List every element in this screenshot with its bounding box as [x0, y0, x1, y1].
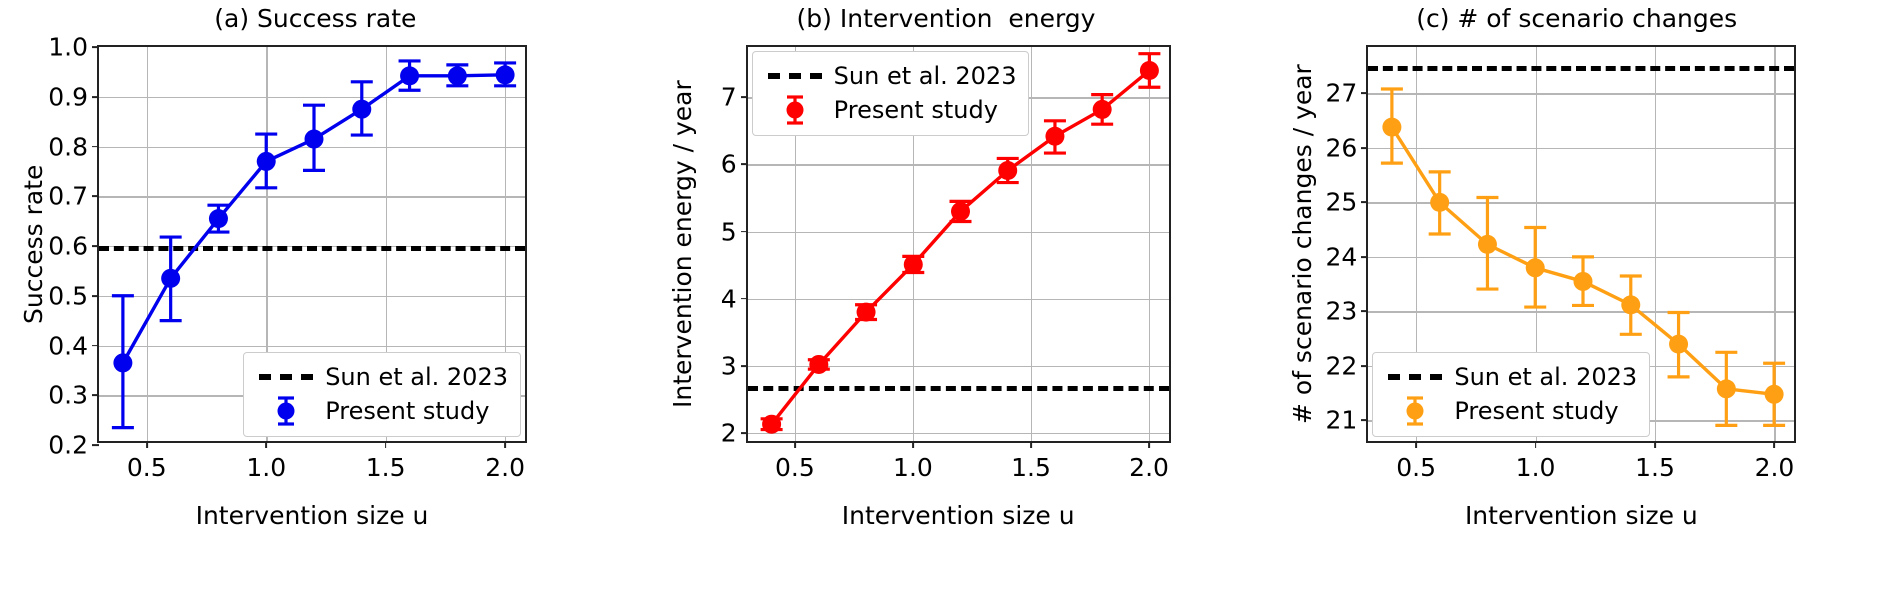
ytick-label: 26 [1326, 133, 1369, 162]
ytick-label: 24 [1326, 242, 1369, 271]
xtick-label: 1.5 [1011, 441, 1051, 482]
ytick-label: 6 [721, 150, 748, 179]
ytick-label: 0.5 [48, 281, 99, 310]
data-point-marker[interactable] [305, 130, 324, 149]
errorbar-marker-glyph [1398, 394, 1432, 428]
xtick-label: 0.5 [775, 441, 815, 482]
data-point-marker[interactable] [1669, 335, 1688, 354]
panel-b-ylabel: Intervention energy / year [668, 80, 697, 408]
legend-label-present-study: Present study [1446, 397, 1618, 425]
panel-a: (a) Success rate Success rate 0.20.30.40… [0, 0, 631, 615]
ytick-label: 2 [721, 418, 748, 447]
data-point-marker[interactable] [951, 202, 970, 221]
panel-c-ylabel: # of scenario changes / year [1288, 64, 1317, 424]
ytick-label: 21 [1326, 406, 1369, 435]
legend-entry-sun-2023: Sun et al. 2023 [1384, 360, 1637, 394]
figure-three-panel-errorbar: (a) Success rate Success rate 0.20.30.40… [0, 0, 1892, 615]
panel-c: (c) # of scenario changes # of scenario … [1261, 0, 1892, 615]
legend-label-present-study: Present study [826, 96, 998, 124]
dash-glyph [259, 374, 313, 380]
panel-b-title: (b) Intervention energy [631, 4, 1262, 33]
data-point-marker[interactable] [1765, 385, 1784, 404]
panel-c-xlabel: Intervention size u [1366, 501, 1796, 530]
legend-label-sun-2023: Sun et al. 2023 [826, 62, 1017, 90]
legend-entry-present-study: Present study [1384, 394, 1637, 428]
errorbar-marker-icon [1384, 394, 1446, 428]
legend-entry-present-study: Present study [764, 93, 1017, 127]
data-point-marker[interactable] [257, 152, 276, 171]
ytick-label: 0.9 [48, 82, 99, 111]
panel-c-title: (c) # of scenario changes [1261, 4, 1892, 33]
ytick-label: 3 [721, 351, 748, 380]
data-point-marker[interactable] [1045, 127, 1064, 146]
panel-a-xlabel: Intervention size u [97, 501, 527, 530]
ytick-label: 5 [721, 217, 748, 246]
data-point-marker[interactable] [400, 66, 419, 85]
ytick-label: 22 [1326, 351, 1369, 380]
ytick-label: 1.0 [48, 33, 99, 62]
legend-entry-sun-2023: Sun et al. 2023 [764, 59, 1017, 93]
data-point-marker[interactable] [1431, 193, 1450, 212]
ytick-label: 0.7 [48, 182, 99, 211]
ytick-label: 0.3 [48, 381, 99, 410]
panel-a-ylabel: Success rate [19, 164, 48, 323]
legend-marker-dot [1407, 403, 1424, 420]
data-point-marker[interactable] [1140, 61, 1159, 80]
legend-label-sun-2023: Sun et al. 2023 [1446, 363, 1637, 391]
legend-entry-sun-2023: Sun et al. 2023 [255, 360, 508, 394]
data-point-marker[interactable] [998, 161, 1017, 180]
data-point-marker[interactable] [161, 269, 180, 288]
data-point-marker[interactable] [856, 303, 875, 322]
ytick-label: 25 [1326, 188, 1369, 217]
data-point-marker[interactable] [1526, 258, 1545, 277]
data-point-marker[interactable] [1717, 379, 1736, 398]
data-point-marker[interactable] [209, 209, 228, 228]
errorbar-marker-icon [255, 394, 317, 428]
errorbar-marker-glyph [269, 394, 303, 428]
panel-b-plot-area: 2345670.51.01.52.0Sun et al. 2023Present… [746, 45, 1171, 443]
data-point-marker[interactable] [1622, 295, 1641, 314]
data-point-marker[interactable] [1478, 235, 1497, 254]
legend-panel-b: Sun et al. 2023Present study [752, 51, 1030, 136]
data-point-marker[interactable] [496, 65, 515, 84]
panel-a-plot-area: 0.20.30.40.50.60.70.80.91.00.51.01.52.0S… [97, 45, 527, 443]
legend-label-present-study: Present study [317, 397, 489, 425]
legend-panel-a: Sun et al. 2023Present study [243, 352, 521, 437]
xtick-label: 1.0 [893, 441, 933, 482]
dashed-line-icon [1384, 374, 1446, 380]
xtick-label: 0.5 [1396, 441, 1436, 482]
legend-label-sun-2023: Sun et al. 2023 [317, 363, 508, 391]
ytick-label: 27 [1326, 79, 1369, 108]
data-point-marker[interactable] [113, 353, 132, 372]
data-point-marker[interactable] [762, 415, 781, 434]
xtick-label: 1.5 [1635, 441, 1675, 482]
xtick-label: 2.0 [1755, 441, 1795, 482]
xtick-label: 2.0 [485, 441, 525, 482]
data-point-marker[interactable] [1574, 272, 1593, 291]
data-point-marker[interactable] [352, 100, 371, 119]
legend-panel-c: Sun et al. 2023Present study [1372, 352, 1650, 437]
panel-a-title: (a) Success rate [0, 4, 631, 33]
xtick-label: 1.0 [1516, 441, 1556, 482]
data-point-marker[interactable] [809, 355, 828, 374]
ytick-label: 7 [721, 83, 748, 112]
ytick-label: 4 [721, 284, 748, 313]
legend-marker-dot [786, 102, 803, 119]
xtick-label: 1.0 [246, 441, 286, 482]
data-point-marker[interactable] [1383, 118, 1402, 137]
legend-marker-dot [278, 403, 295, 420]
data-point-marker[interactable] [1092, 100, 1111, 119]
xtick-label: 1.5 [366, 441, 406, 482]
panel-b: (b) Intervention energy Intervention ene… [631, 0, 1262, 615]
dashed-line-icon [764, 73, 826, 79]
ytick-label: 0.2 [48, 431, 99, 460]
ytick-label: 0.6 [48, 232, 99, 261]
ytick-label: 0.8 [48, 132, 99, 161]
data-point-marker[interactable] [448, 66, 467, 85]
xtick-label: 0.5 [127, 441, 167, 482]
errorbar-marker-glyph [778, 93, 812, 127]
dash-glyph [1388, 374, 1442, 380]
ytick-label: 0.4 [48, 331, 99, 360]
dash-glyph [768, 73, 822, 79]
legend-entry-present-study: Present study [255, 394, 508, 428]
dashed-line-icon [255, 374, 317, 380]
data-point-marker[interactable] [903, 255, 922, 274]
xtick-label: 2.0 [1129, 441, 1169, 482]
ytick-label: 23 [1326, 297, 1369, 326]
errorbar-marker-icon [764, 93, 826, 127]
panel-b-xlabel: Intervention size u [746, 501, 1171, 530]
panel-c-plot-area: 212223242526270.51.01.52.0Sun et al. 202… [1366, 45, 1796, 443]
